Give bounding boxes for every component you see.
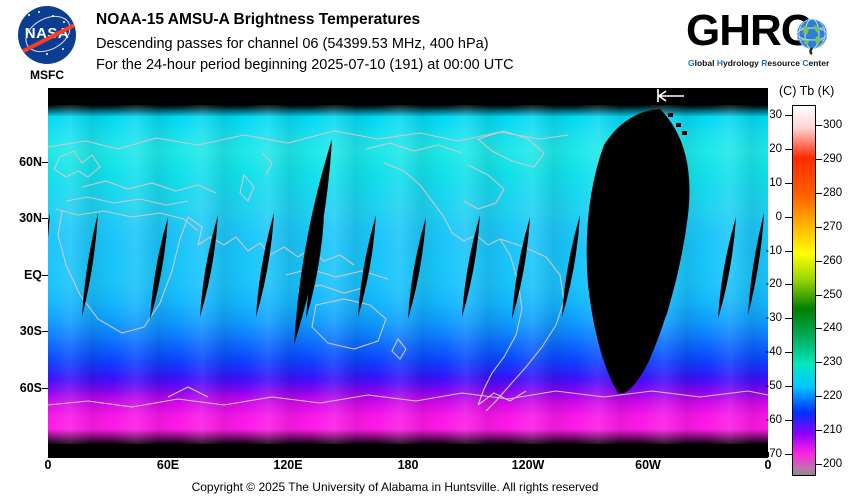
- longitude-tick: [168, 452, 169, 457]
- latitude-tick: [42, 331, 48, 332]
- no-data-gap: [748, 213, 764, 315]
- colorbar-kelvin-tick: [815, 362, 822, 363]
- no-data-gap: [82, 213, 98, 317]
- no-data-gap: [150, 217, 168, 320]
- no-data-gap: [587, 109, 690, 393]
- latitude-tick-label: 60N: [0, 155, 42, 169]
- no-data-gap: [462, 215, 480, 317]
- orbital-gap-overlay: [48, 105, 768, 444]
- no-data-speckle: [676, 123, 681, 127]
- colorbar-celsius-label: 10: [756, 177, 782, 189]
- longitude-tick: [288, 452, 289, 457]
- title-block: NOAA-15 AMSU-A Brightness Temperatures D…: [96, 10, 676, 76]
- map-plot-area[interactable]: [48, 88, 768, 458]
- longitude-tick-label: 0: [45, 458, 52, 472]
- colorbar-celsius-tick: [785, 217, 792, 218]
- no-data-gap: [256, 213, 274, 317]
- colorbar-celsius-label: -40: [756, 346, 782, 358]
- no-data-gap: [512, 217, 530, 319]
- colorbar-kelvin-label: 260: [823, 255, 842, 267]
- colorbar-kelvin-tick: [815, 193, 822, 194]
- no-data-gap: [408, 217, 426, 319]
- no-data-gap: [294, 139, 332, 345]
- longitude-tick: [408, 452, 409, 457]
- colorbar-kelvin-tick: [815, 159, 822, 160]
- longitude-tick-label: 120W: [512, 458, 545, 472]
- colorbar-celsius-label: -30: [756, 312, 782, 324]
- colorbar-celsius-tick: [785, 318, 792, 319]
- ghrc-tagline: Global Hydrology Resource Center: [688, 58, 829, 68]
- msfc-label: MSFC: [10, 68, 84, 82]
- colorbar-celsius-tick: [785, 115, 792, 116]
- colorbar-celsius-label: 30: [756, 109, 782, 121]
- colorbar-celsius-tick: [785, 183, 792, 184]
- scan-direction-marker: [628, 88, 688, 105]
- colorbar-celsius-tick: [785, 420, 792, 421]
- latitude-tick-label: 30S: [0, 324, 42, 338]
- latitude-tick: [42, 388, 48, 389]
- colorbar-kelvin-label: 280: [823, 187, 842, 199]
- no-data-speckle: [660, 119, 665, 123]
- longitude-tick-label: 120E: [273, 458, 302, 472]
- no-data-speckle: [634, 123, 639, 127]
- no-data-gap: [562, 215, 580, 317]
- longitude-tick: [648, 452, 649, 457]
- colorbar-kelvin-tick: [815, 295, 822, 296]
- colorbar-celsius-tick: [785, 251, 792, 252]
- longitude-tick: [48, 452, 49, 457]
- colorbar-units-header: (C) Tb (K): [779, 84, 834, 98]
- copyright-notice: Copyright © 2025 The University of Alaba…: [0, 480, 790, 494]
- no-data-gap: [200, 215, 218, 317]
- ghrc-logo: GHRC Global Hydrology Resource Center: [686, 8, 846, 78]
- latitude-tick: [42, 218, 48, 219]
- colorbar-kelvin-label: 200: [823, 458, 842, 470]
- longitude-tick-label: 0: [765, 458, 772, 472]
- colorbar-kelvin-tick: [815, 261, 822, 262]
- no-data-gap: [48, 213, 50, 317]
- colorbar-celsius-label: -60: [756, 414, 782, 426]
- map-data-canvas[interactable]: [48, 105, 768, 444]
- latitude-tick: [42, 275, 48, 276]
- no-data-speckle: [626, 129, 631, 133]
- subtitle-channel: Descending passes for channel 06 (54399.…: [96, 34, 676, 55]
- colorbar-kelvin-label: 220: [823, 390, 842, 402]
- nasa-meatball-icon: NASA: [18, 6, 76, 64]
- colorbar-kelvin-tick: [815, 125, 822, 126]
- no-data-gap: [718, 217, 736, 319]
- colorbar-celsius-tick: [785, 284, 792, 285]
- colorbar-celsius-tick: [785, 149, 792, 150]
- colorbar-kelvin-label: 270: [823, 221, 842, 233]
- latitude-tick-label: 60S: [0, 381, 42, 395]
- nasa-logo: NASA MSFC: [10, 6, 84, 86]
- no-data-speckle: [652, 111, 657, 115]
- latitude-tick-label: EQ: [0, 268, 42, 282]
- colorbar-kelvin-tick: [815, 227, 822, 228]
- no-data-speckle: [668, 113, 673, 117]
- colorbar-celsius-label: -20: [756, 278, 782, 290]
- colorbar-celsius-tick: [785, 352, 792, 353]
- longitude-tick-label: 60W: [635, 458, 661, 472]
- globe-icon: [792, 16, 832, 56]
- colorbar-kelvin-label: 250: [823, 289, 842, 301]
- colorbar-celsius-tick: [785, 454, 792, 455]
- latitude-tick-label: 30N: [0, 211, 42, 225]
- no-data-speckle: [618, 135, 623, 139]
- visualization-page: NASA MSFC NOAA-15 AMSU-A Brightness Temp…: [0, 0, 854, 502]
- colorbar-kelvin-label: 210: [823, 424, 842, 436]
- colorbar-kelvin-label: 300: [823, 119, 842, 131]
- colorbar-gradient: [792, 105, 816, 476]
- colorbar-celsius-label: -10: [756, 245, 782, 257]
- colorbar-celsius-label: -50: [756, 380, 782, 392]
- colorbar-celsius-label: -70: [756, 448, 782, 460]
- no-data-speckle: [644, 115, 649, 119]
- colorbar-kelvin-tick: [815, 464, 822, 465]
- longitude-tick-label: 60E: [157, 458, 179, 472]
- colorbar-kelvin-label: 240: [823, 322, 842, 334]
- colorbar-celsius-label: 20: [756, 143, 782, 155]
- no-data-gap: [358, 215, 376, 317]
- colorbar-kelvin-tick: [815, 430, 822, 431]
- longitude-tick-label: 180: [398, 458, 419, 472]
- colorbar-kelvin-tick: [815, 396, 822, 397]
- longitude-tick: [528, 452, 529, 457]
- colorbar-kelvin-label: 230: [823, 356, 842, 368]
- latitude-tick: [42, 162, 48, 163]
- colorbar-kelvin-tick: [815, 328, 822, 329]
- page-title: NOAA-15 AMSU-A Brightness Temperatures: [96, 10, 676, 30]
- colorbar-celsius-tick: [785, 386, 792, 387]
- colorbar-kelvin-label: 290: [823, 153, 842, 165]
- no-data-speckle: [682, 131, 687, 135]
- subtitle-period: For the 24-hour period beginning 2025-07…: [96, 55, 676, 76]
- colorbar-celsius-label: 0: [756, 211, 782, 223]
